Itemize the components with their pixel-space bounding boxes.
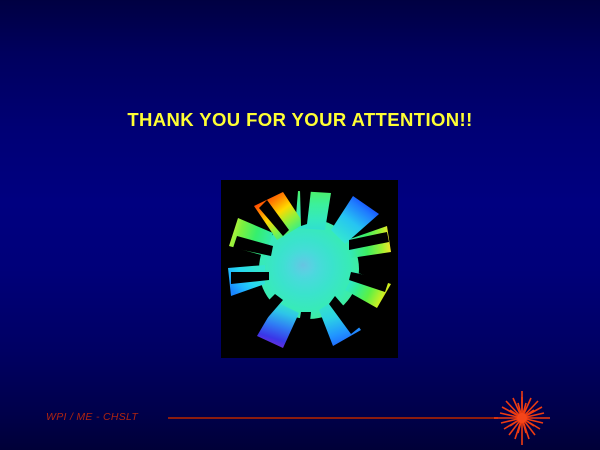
- footer-label: WPI / ME - CHSLT: [46, 411, 138, 423]
- starburst-core: [517, 413, 527, 423]
- presentation-slide: THANK YOU FOR YOUR ATTENTION!!: [0, 0, 600, 450]
- fan-impeller-phase-map-svg: [221, 180, 398, 358]
- page-title: THANK YOU FOR YOUR ATTENTION!!: [0, 109, 600, 131]
- fan-impeller-image: [221, 180, 398, 358]
- chslt-starburst-logo: [492, 389, 552, 447]
- footer-divider: [168, 417, 498, 419]
